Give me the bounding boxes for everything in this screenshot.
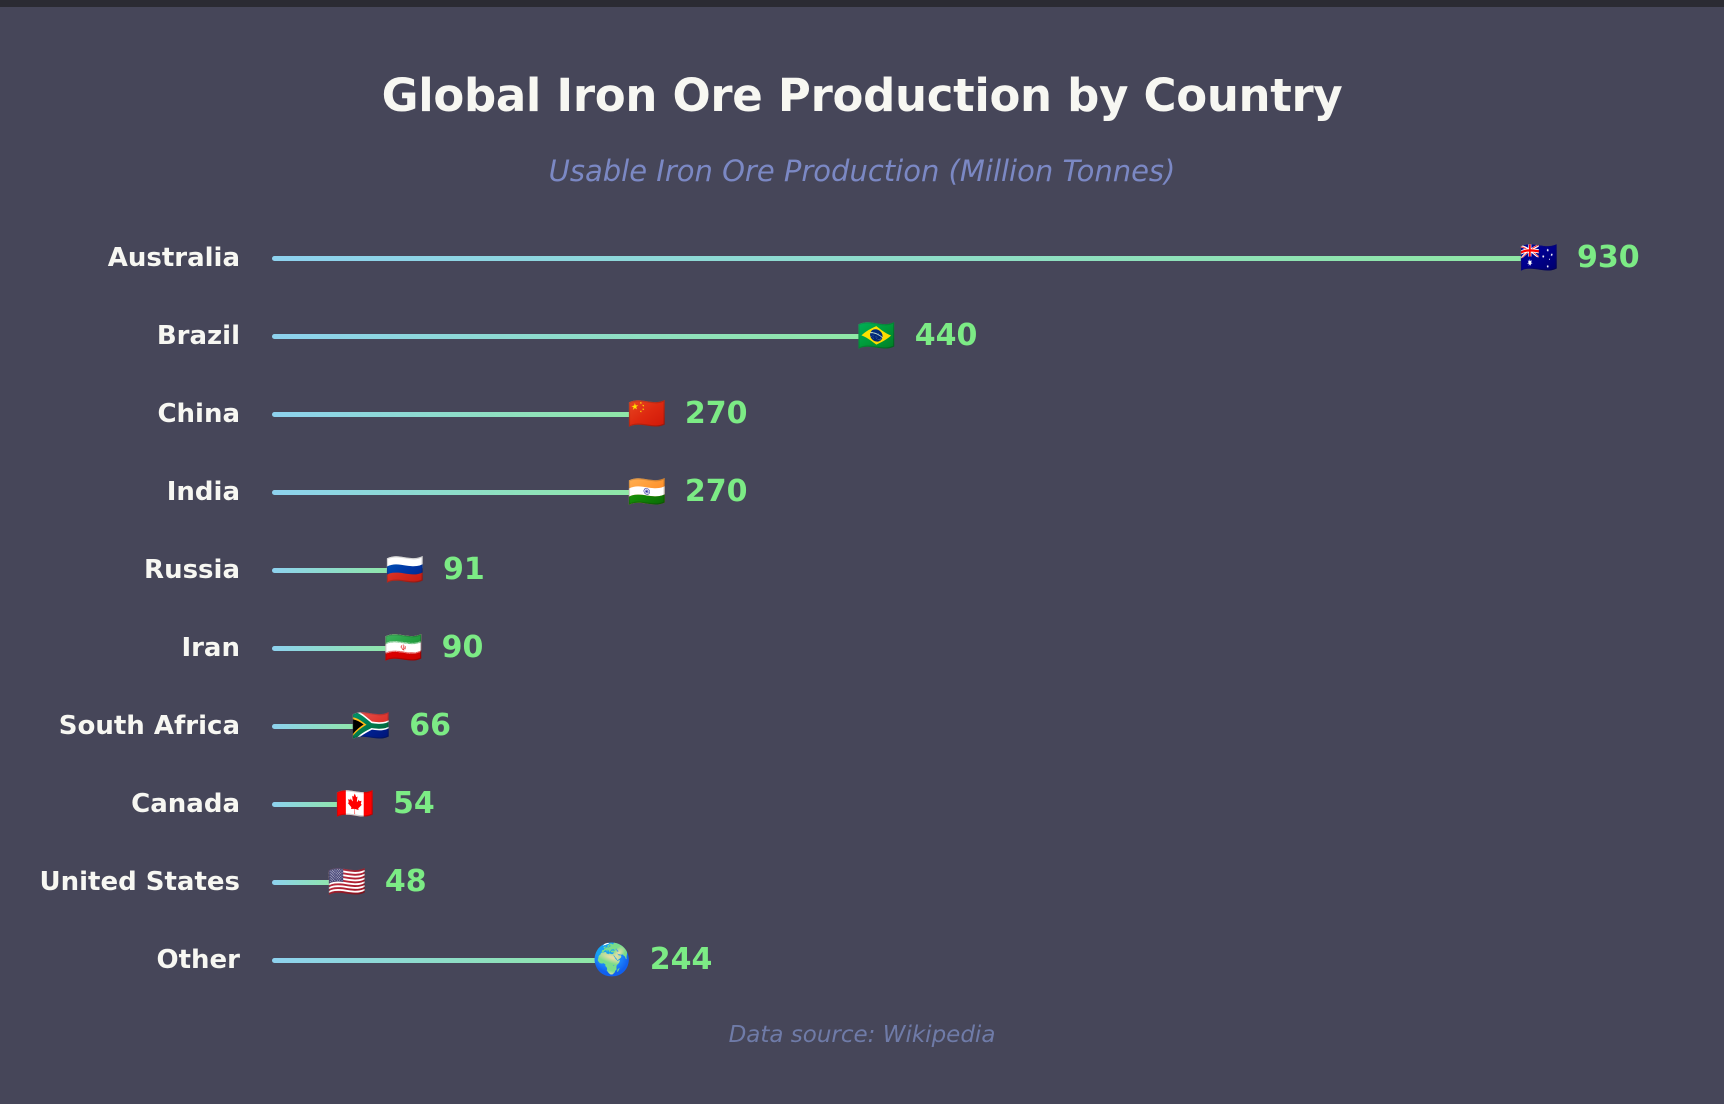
category-label: United States xyxy=(0,843,240,921)
flag-china-icon: 🇨🇳 xyxy=(625,389,669,439)
value-label: 66 xyxy=(409,687,451,765)
lollipop-stem xyxy=(272,958,602,963)
value-label: 91 xyxy=(443,531,485,609)
lollipop-stem xyxy=(272,724,361,729)
flag-united-states-icon: 🇺🇸 xyxy=(325,857,369,907)
category-label: South Africa xyxy=(0,687,240,765)
category-label: Russia xyxy=(0,531,240,609)
flag-south-africa-icon: 🇿🇦 xyxy=(349,701,393,751)
lollipop-stem xyxy=(272,646,394,651)
flag-brazil-icon: 🇧🇷 xyxy=(855,311,899,361)
lollipop-stem xyxy=(272,490,637,495)
value-label: 48 xyxy=(385,843,427,921)
category-label: Australia xyxy=(0,219,240,297)
value-label: 270 xyxy=(685,375,748,453)
value-label: 930 xyxy=(1577,219,1640,297)
value-label: 440 xyxy=(915,297,978,375)
lollipop-row: China🇨🇳270 xyxy=(0,375,1724,453)
value-label: 54 xyxy=(393,765,435,843)
lollipop-row: Russia🇷🇺91 xyxy=(0,531,1724,609)
lollipop-row: Brazil🇧🇷440 xyxy=(0,297,1724,375)
lollipop-stem xyxy=(272,256,1529,261)
lollipop-row: India🇮🇳270 xyxy=(0,453,1724,531)
lollipop-row: United States🇺🇸48 xyxy=(0,843,1724,921)
flag-australia-icon: 🇦🇺 xyxy=(1517,233,1561,283)
flag-russia-icon: 🇷🇺 xyxy=(383,545,427,595)
lollipop-row: Iran🇮🇷90 xyxy=(0,609,1724,687)
lollipop-plot-area: Australia🇦🇺930Brazil🇧🇷440China🇨🇳270India… xyxy=(0,219,1724,959)
lollipop-row: Australia🇦🇺930 xyxy=(0,219,1724,297)
flag-canada-icon: 🇨🇦 xyxy=(333,779,377,829)
category-label: Iran xyxy=(0,609,240,687)
lollipop-stem xyxy=(272,568,395,573)
lollipop-row: South Africa🇿🇦66 xyxy=(0,687,1724,765)
category-label: China xyxy=(0,375,240,453)
chart-panel: Global Iron Ore Production by Country Us… xyxy=(0,7,1724,1104)
lollipop-row: Canada🇨🇦54 xyxy=(0,765,1724,843)
chart-subtitle: Usable Iron Ore Production (Million Tonn… xyxy=(0,154,1724,188)
category-label: Brazil xyxy=(0,297,240,375)
flag-iran-icon: 🇮🇷 xyxy=(382,623,426,673)
category-label: Canada xyxy=(0,765,240,843)
value-label: 244 xyxy=(650,921,713,999)
category-label: India xyxy=(0,453,240,531)
lollipop-stem xyxy=(272,412,637,417)
chart-title: Global Iron Ore Production by Country xyxy=(0,69,1724,122)
globe-icon: 🌍 xyxy=(590,935,634,985)
category-label: Other xyxy=(0,921,240,999)
lollipop-row: Other🌍244 xyxy=(0,921,1724,999)
lollipop-stem xyxy=(272,334,867,339)
value-label: 270 xyxy=(685,453,748,531)
flag-india-icon: 🇮🇳 xyxy=(625,467,669,517)
value-label: 90 xyxy=(442,609,484,687)
data-source-footnote: Data source: Wikipedia xyxy=(0,1022,1724,1048)
